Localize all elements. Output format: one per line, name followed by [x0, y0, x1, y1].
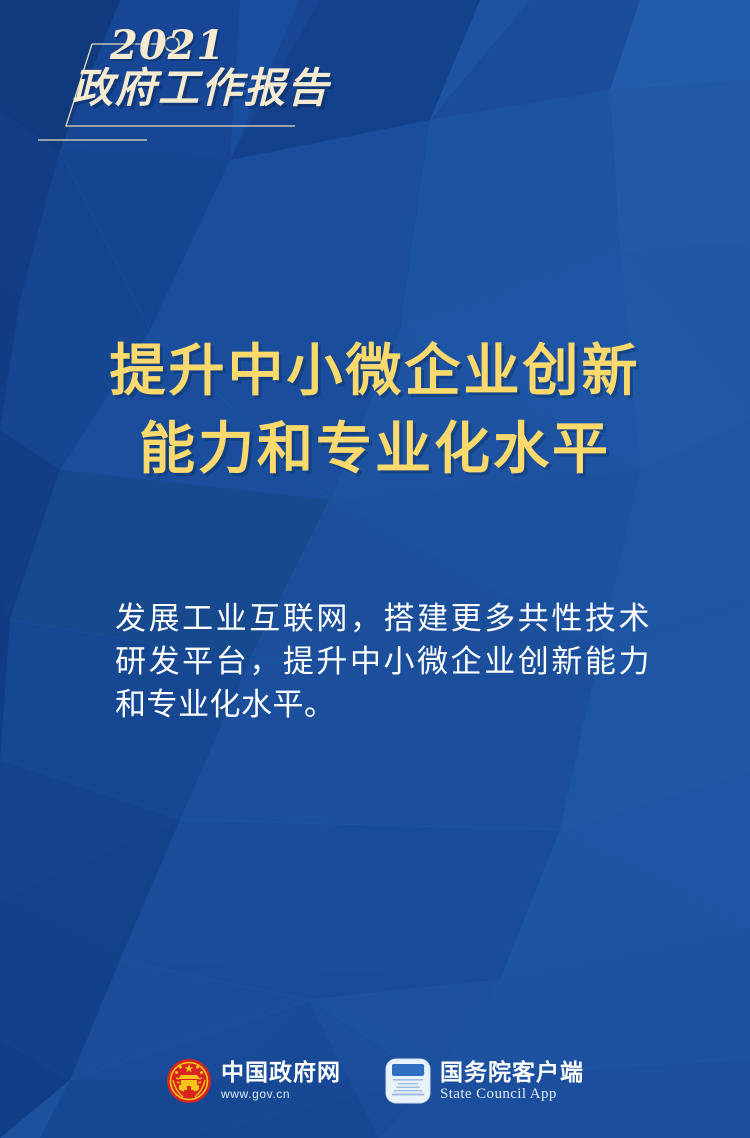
title-line-2: 能力和专业化水平: [0, 411, 750, 489]
state-council-logo-en: State Council App: [440, 1087, 584, 1102]
header-report-name: 政府工作报告: [72, 68, 392, 109]
state-council-logo-text: 国务院客户端 State Council App: [440, 1060, 584, 1102]
footer-logos: 中国政府网 www.gov.cn 国务院 国务院客户端 S: [0, 1058, 750, 1104]
background-polygon-pattern: [0, 0, 750, 1138]
gov-cn-logo-cn: 中国政府网: [221, 1060, 341, 1086]
gov-cn-logo-en: www.gov.cn: [221, 1087, 341, 1102]
page-title: 提升中小微企业创新 能力和专业化水平: [0, 333, 750, 489]
state-council-app-icon: 国务院: [385, 1058, 431, 1104]
header-year: 2021: [110, 26, 392, 66]
state-council-app-logo[interactable]: 国务院 国务院客户端 State Council App: [385, 1058, 584, 1104]
state-council-logo-cn: 国务院客户端: [440, 1060, 584, 1086]
state-council-icon-label: 国务院: [392, 1063, 425, 1077]
gov-cn-logo[interactable]: 中国政府网 www.gov.cn: [166, 1058, 341, 1104]
china-national-emblem-icon: [166, 1058, 212, 1104]
gov-cn-logo-text: 中国政府网 www.gov.cn: [221, 1060, 341, 1102]
title-line-1: 提升中小微企业创新: [0, 333, 750, 411]
report-header-badge: 2021 政府工作报告: [0, 0, 420, 150]
poster-canvas: 2021 政府工作报告 提升中小微企业创新 能力和专业化水平 发展工业互联网，搭…: [0, 0, 750, 1138]
body-section: 发展工业互联网，搭建更多共性技术研发平台，提升中小微企业创新能力和专业化水平。: [115, 598, 650, 727]
body-paragraph: 发展工业互联网，搭建更多共性技术研发平台，提升中小微企业创新能力和专业化水平。: [115, 598, 650, 727]
